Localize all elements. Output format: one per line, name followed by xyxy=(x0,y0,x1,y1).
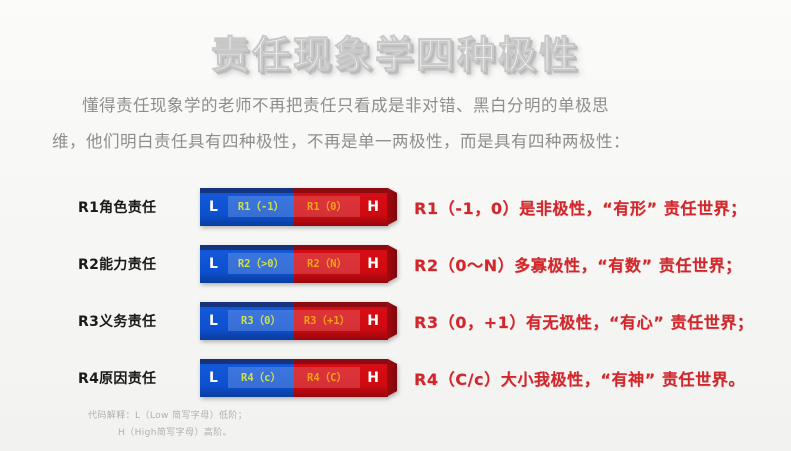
intro-line-2: 维，他们明白责任具有四种极性，不再是单一两极性，而是具有四种两极性： xyxy=(52,124,742,160)
chip-left-r3: R3（0） xyxy=(228,310,294,331)
polarity-rows: R1角色责任 L H R1（-1） R1（0） R1（-1，0）是非极性，“有形… xyxy=(0,178,791,406)
row-label-r3: R3义务责任 xyxy=(78,311,196,331)
chip-right-r3: R3（+1） xyxy=(294,310,360,331)
polarity-row: R2能力责任 L H R2（>0） R2（N） R2（0～N）多寡极性，“有数”… xyxy=(0,235,791,292)
slide-canvas: 责任现象学四种极性 懂得责任现象学的老师不再把责任只看成是非对错、黑白分明的单极… xyxy=(0,0,791,451)
bar-3d-cap xyxy=(387,188,397,226)
low-edge-letter: L xyxy=(209,200,218,214)
low-edge-letter: L xyxy=(209,257,218,271)
polarity-row: R1角色责任 L H R1（-1） R1（0） R1（-1，0）是非极性，“有形… xyxy=(0,178,791,235)
statement-r1: R1（-1，0）是非极性，“有形” 责任世界； xyxy=(414,195,747,219)
page-title: 责任现象学四种极性 xyxy=(211,24,580,79)
chip-right-r2: R2（N） xyxy=(294,253,360,274)
statement-r4: R4（C/c）大小我极性，“有神” 责任世界。 xyxy=(414,366,745,390)
bar-chips: R1（-1） R1（0） xyxy=(228,196,360,217)
high-edge-letter: H xyxy=(367,371,379,385)
bar-chips: R4（c） R4（C） xyxy=(228,367,360,388)
intro-line-1: 懂得责任现象学的老师不再把责任只看成是非对错、黑白分明的单极思 xyxy=(52,88,742,124)
row-label-r2: R2能力责任 xyxy=(78,254,196,274)
row-label-r1: R1角色责任 xyxy=(78,197,196,217)
polarity-bar-r3: L H R3（0） R3（+1） xyxy=(200,302,388,340)
chip-right-r1: R1（0） xyxy=(294,196,360,217)
low-edge-letter: L xyxy=(209,314,218,328)
chip-right-r4: R4（C） xyxy=(294,367,360,388)
row-label-r4: R4原因责任 xyxy=(78,368,196,388)
statement-r3: R3（0，+1）有无极性，“有心” 责任世界； xyxy=(414,309,754,333)
high-edge-letter: H xyxy=(367,200,379,214)
statement-r2: R2（0～N）多寡极性，“有数” 责任世界； xyxy=(414,252,742,276)
bar-chips: R3（0） R3（+1） xyxy=(228,310,360,331)
polarity-row: R3义务责任 L H R3（0） R3（+1） R3（0，+1）有无极性，“有心… xyxy=(0,292,791,349)
chip-left-r1: R1（-1） xyxy=(228,196,294,217)
polarity-bar-r1: L H R1（-1） R1（0） xyxy=(200,188,388,226)
polarity-bar-r2: L H R2（>0） R2（N） xyxy=(200,245,388,283)
bar-3d-cap xyxy=(387,359,397,397)
footnote-line-1: 代码解释：L（Low 简写字母）低阶； xyxy=(88,411,247,421)
bar-3d-cap xyxy=(387,302,397,340)
chip-left-r4: R4（c） xyxy=(228,367,294,388)
high-edge-letter: H xyxy=(367,257,379,271)
footnote: 代码解释：L（Low 简写字母）低阶； H（High简写字母）高阶。 xyxy=(88,408,247,442)
bar-chips: R2（>0） R2（N） xyxy=(228,253,360,274)
chip-left-r2: R2（>0） xyxy=(228,253,294,274)
bar-3d-cap xyxy=(387,245,397,283)
polarity-bar-r4: L H R4（c） R4（C） xyxy=(200,359,388,397)
polarity-row: R4原因责任 L H R4（c） R4（C） R4（C/c）大小我极性，“有神”… xyxy=(0,349,791,406)
title-container: 责任现象学四种极性 xyxy=(0,24,791,79)
footnote-line-2: H（High简写字母）高阶。 xyxy=(88,425,247,442)
intro-paragraph: 懂得责任现象学的老师不再把责任只看成是非对错、黑白分明的单极思 维，他们明白责任… xyxy=(52,88,742,160)
high-edge-letter: H xyxy=(367,314,379,328)
low-edge-letter: L xyxy=(209,371,218,385)
